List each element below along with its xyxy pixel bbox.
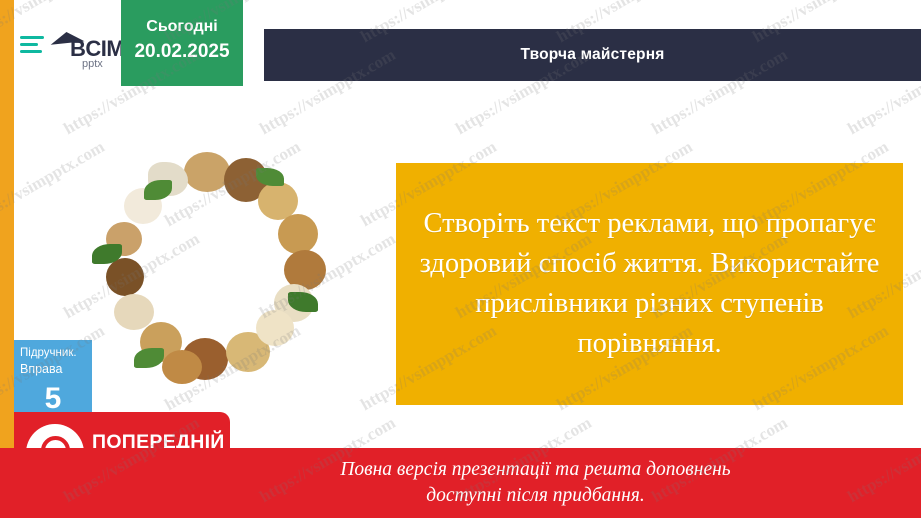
task-text: Створіть текст реклами, що пропагує здор… [414,204,885,364]
date-badge-date: 20.02.2025 [121,38,243,66]
slide-screenshot: BCIM pptx Сьогодні 20.02.2025 Творча май… [0,0,921,518]
textbook-badge-line1: Підручник. [20,346,86,361]
purchase-banner-text: Повна версія презентації та решта доповн… [190,457,730,509]
date-badge-label: Сьогодні [121,16,243,38]
speed-lines-icon [20,36,46,62]
purchase-banner-line1: Повна версія презентації та решта доповн… [340,459,730,480]
task-card: Створіть текст реклами, що пропагує здор… [396,163,903,405]
textbook-badge-line2: Вправа [20,361,86,377]
purchase-banner: Повна версія презентації та решта доповн… [0,448,921,518]
nuts-wreath-image [88,152,364,406]
purchase-banner-line2: доступні після придбання. [426,485,644,506]
date-badge: Сьогодні 20.02.2025 [121,0,243,86]
left-orange-rail-top [0,0,14,86]
brand-subtitle: pptx [82,58,103,70]
page-title: Творча майстерня [264,29,921,81]
